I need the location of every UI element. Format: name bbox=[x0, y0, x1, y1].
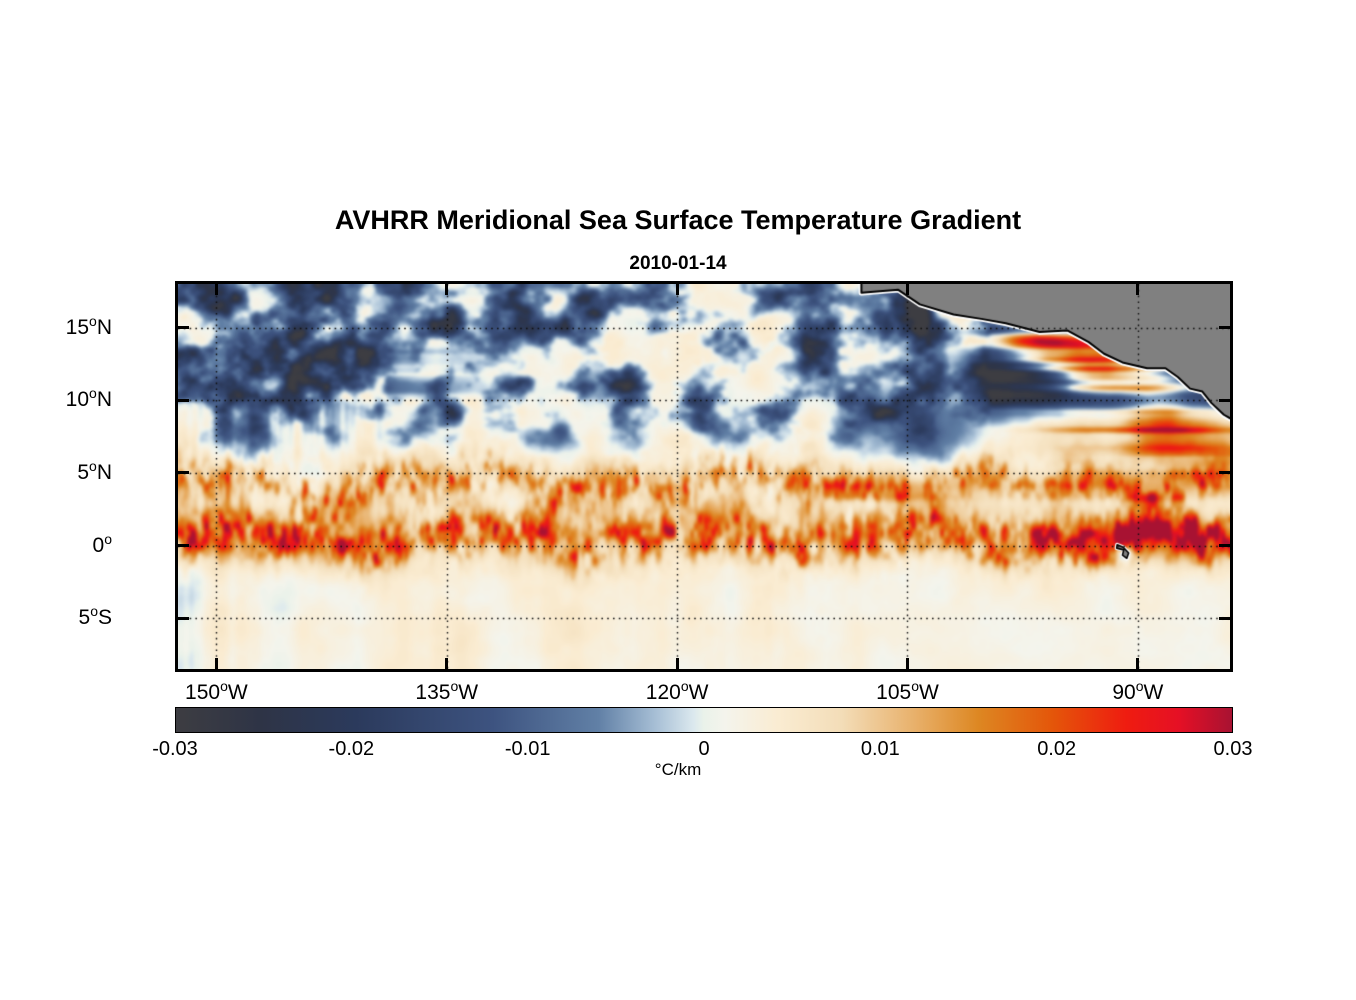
x-axis-tick-label-3: 105oW bbox=[837, 678, 977, 705]
colorbar-tick-label-5: 0.02 bbox=[997, 738, 1117, 761]
colorbar-gradient bbox=[176, 708, 1232, 732]
y-axis-tick bbox=[178, 544, 189, 547]
colorbar bbox=[175, 707, 1233, 733]
y-axis-tick bbox=[178, 326, 189, 329]
x-axis-tick bbox=[215, 658, 218, 669]
x-axis-tick bbox=[906, 284, 909, 295]
x-axis-tick bbox=[676, 284, 679, 295]
colorbar-tick-label-3: 0 bbox=[644, 738, 764, 761]
y-axis-tick bbox=[1219, 399, 1230, 402]
colorbar-tick-label-1: -0.02 bbox=[291, 738, 411, 761]
x-axis-tick bbox=[215, 284, 218, 295]
y-axis-tick bbox=[1219, 326, 1230, 329]
x-axis-tick bbox=[906, 658, 909, 669]
colorbar-units-label: °C/km bbox=[0, 760, 1356, 780]
x-axis-tick bbox=[1136, 284, 1139, 295]
x-axis-tick-label-2: 120oW bbox=[607, 678, 747, 705]
y-axis-tick bbox=[178, 471, 189, 474]
y-axis-tick bbox=[178, 399, 189, 402]
y-axis-tick-label-2: 5oN bbox=[77, 458, 112, 485]
y-axis-tick-label-3: 0o bbox=[93, 531, 112, 558]
colorbar-tick-label-0: -0.03 bbox=[115, 738, 235, 761]
chart-subtitle-date: 2010-01-14 bbox=[0, 253, 1356, 275]
x-axis-tick bbox=[445, 284, 448, 295]
y-axis-tick bbox=[1219, 471, 1230, 474]
figure-canvas: AVHRR Meridional Sea Surface Temperature… bbox=[0, 0, 1356, 1000]
x-axis-tick bbox=[676, 658, 679, 669]
colorbar-tick-label-6: 0.03 bbox=[1173, 738, 1293, 761]
x-axis-tick-label-0: 150oW bbox=[146, 678, 286, 705]
y-axis-tick-label-1: 10oN bbox=[66, 385, 112, 412]
y-axis-tick-label-0: 15oN bbox=[66, 313, 112, 340]
x-axis-tick bbox=[1136, 658, 1139, 669]
sst-gradient-heatmap bbox=[178, 284, 1230, 669]
x-axis-tick-label-4: 90oW bbox=[1068, 678, 1208, 705]
page-title: AVHRR Meridional Sea Surface Temperature… bbox=[0, 205, 1356, 236]
y-axis-tick bbox=[178, 617, 189, 620]
y-axis-tick bbox=[1219, 617, 1230, 620]
map-axes bbox=[175, 281, 1233, 672]
x-axis-tick-label-1: 135oW bbox=[377, 678, 517, 705]
y-axis-tick-label-4: 5oS bbox=[79, 603, 113, 630]
y-axis-tick bbox=[1219, 544, 1230, 547]
colorbar-tick-label-2: -0.01 bbox=[468, 738, 588, 761]
colorbar-tick-label-4: 0.01 bbox=[820, 738, 940, 761]
x-axis-tick bbox=[445, 658, 448, 669]
